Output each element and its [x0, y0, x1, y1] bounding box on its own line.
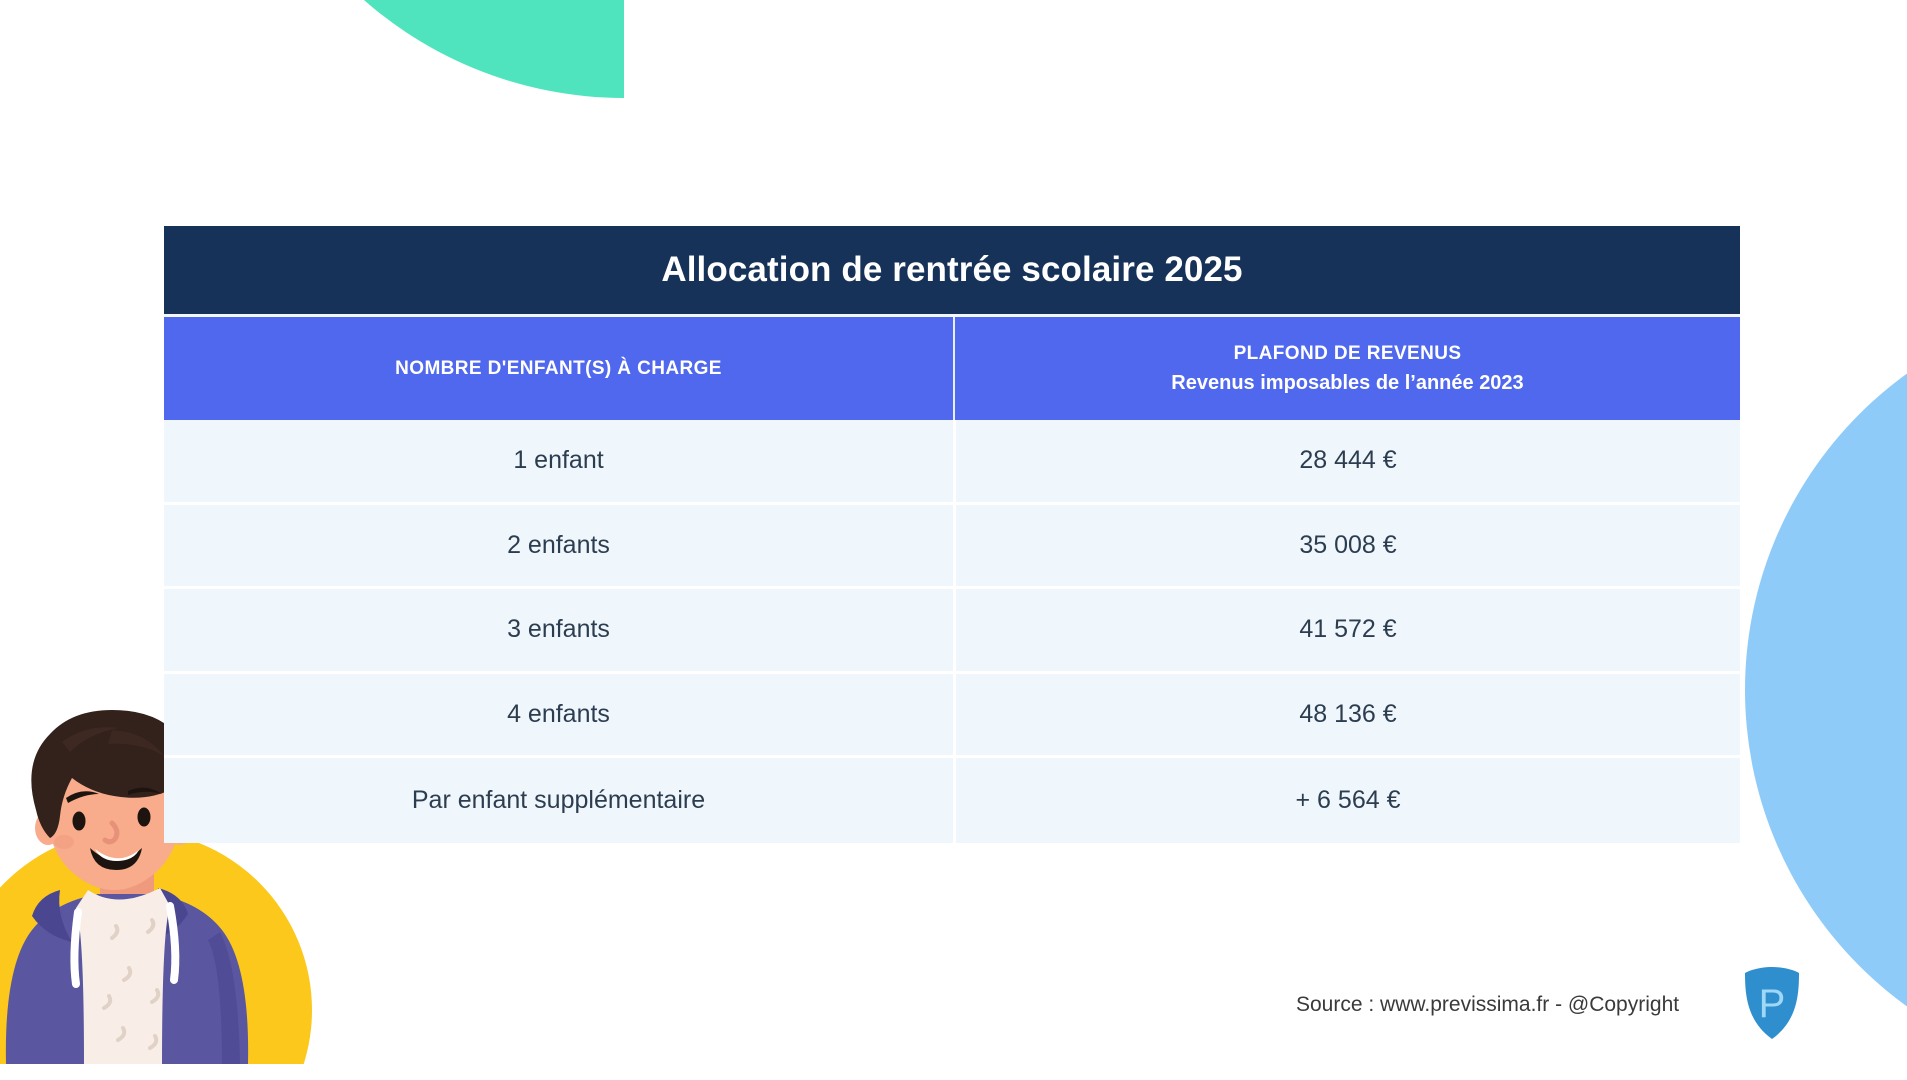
cell-ceiling: + 6 564 € [953, 758, 1740, 843]
column-header-ceiling-subtitle: Revenus imposables de l’année 2023 [1171, 372, 1523, 395]
svg-text:P: P [1759, 982, 1786, 1026]
table-header-row: NOMBRE D'ENFANT(S) À CHARGE PLAFOND DE R… [164, 314, 1740, 420]
column-header-children-title: NOMBRE D'ENFANT(S) À CHARGE [395, 358, 722, 380]
cell-children: 2 enfants [164, 505, 953, 587]
cell-ceiling: 35 008 € [953, 505, 1740, 587]
cell-ceiling: 28 444 € [953, 420, 1740, 502]
table-row: 4 enfants 48 136 € [164, 674, 1740, 759]
blue-circle-shape [1745, 300, 1907, 1080]
cell-ceiling: 48 136 € [953, 674, 1740, 756]
page-title: Allocation de rentrée scolaire 2025 [661, 250, 1242, 290]
table-row: 1 enfant 28 444 € [164, 420, 1740, 505]
column-header-children: NOMBRE D'ENFANT(S) À CHARGE [164, 317, 953, 420]
cell-children: 3 enfants [164, 589, 953, 671]
cell-children: 4 enfants [164, 674, 953, 756]
green-quarter-circle-shape [230, 0, 624, 98]
table-title-bar: Allocation de rentrée scolaire 2025 [164, 226, 1740, 314]
cell-children: Par enfant supplémentaire [164, 758, 953, 843]
table-row: 3 enfants 41 572 € [164, 589, 1740, 674]
shield-logo-icon: P [1741, 965, 1803, 1041]
table-row: 2 enfants 35 008 € [164, 505, 1740, 590]
table-row: Par enfant supplémentaire + 6 564 € [164, 758, 1740, 843]
cell-ceiling: 41 572 € [953, 589, 1740, 671]
cell-children: 1 enfant [164, 420, 953, 502]
column-header-ceiling-title: PLAFOND DE REVENUS [1234, 343, 1462, 365]
column-header-ceiling: PLAFOND DE REVENUS Revenus imposables de… [953, 317, 1740, 420]
source-credit: Source : www.previssima.fr - @Copyright [1296, 993, 1679, 1017]
allocation-table: Allocation de rentrée scolaire 2025 NOMB… [164, 226, 1740, 840]
